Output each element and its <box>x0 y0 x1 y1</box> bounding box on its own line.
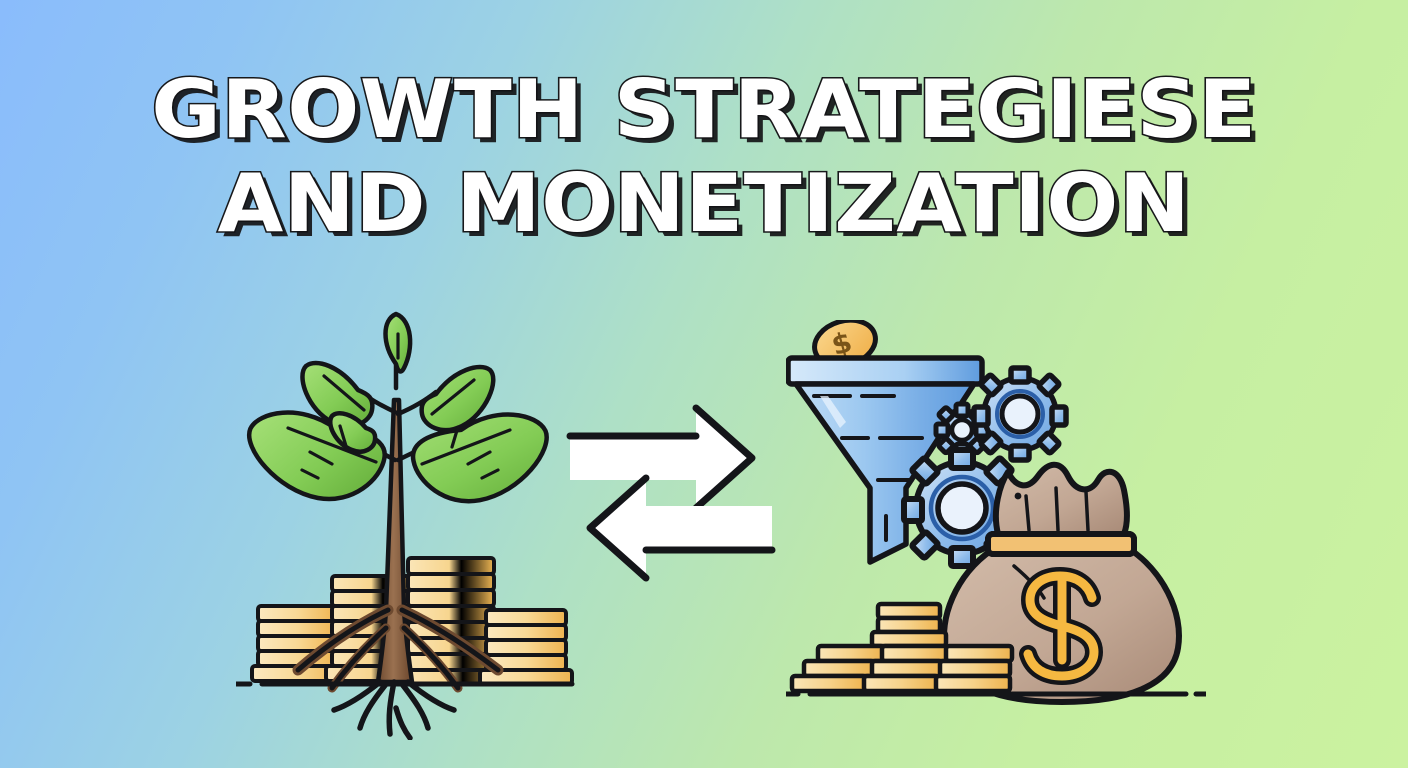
dollar-sign-icon <box>1028 576 1094 676</box>
arrow-right-icon <box>570 408 752 508</box>
gear-medium-icon <box>974 368 1066 460</box>
monetization-illustration: $ <box>786 320 1206 720</box>
plant-trunk <box>378 400 412 682</box>
title-line-2: AND MONETIZATION <box>0 166 1408 242</box>
poster-canvas: GROWTH STRATEGIESE AND MONETIZATION <box>0 0 1408 768</box>
page-title: GROWTH STRATEGIESE AND MONETIZATION <box>0 72 1408 242</box>
bidirectional-arrows <box>566 400 776 585</box>
title-line-1: GROWTH STRATEGIESE <box>0 72 1408 148</box>
growing-plant-illustration <box>236 310 576 740</box>
illustration-scene: $ <box>0 300 1408 768</box>
arrow-left-icon <box>590 478 772 578</box>
